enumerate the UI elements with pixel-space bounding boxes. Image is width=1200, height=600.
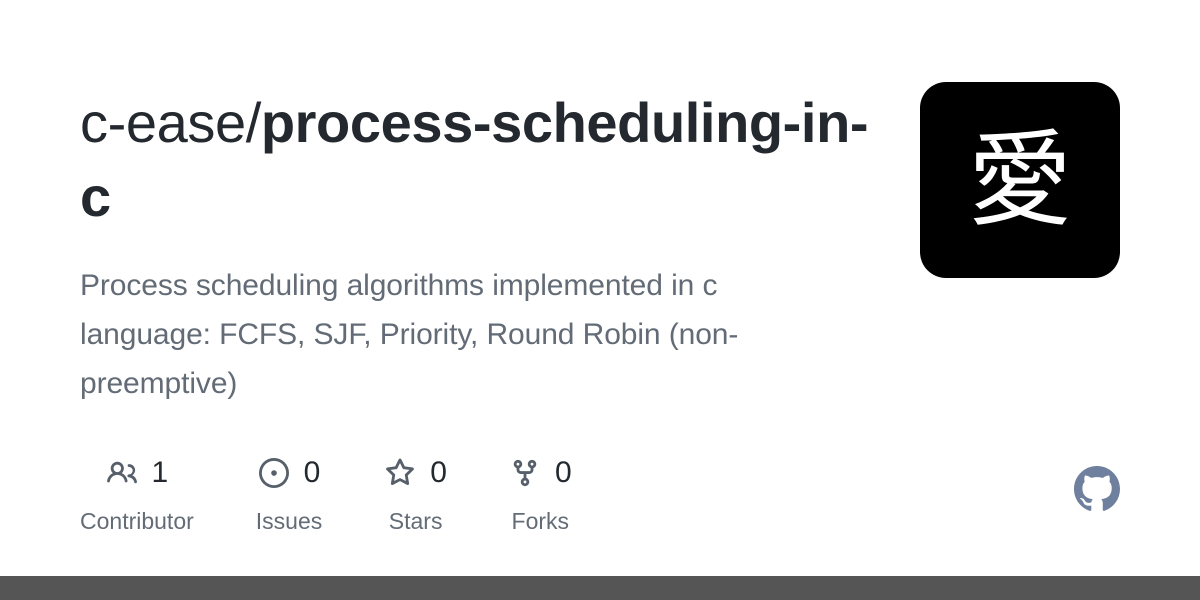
avatar-glyph: 愛 [968,128,1072,232]
stat-stars-value-row: 0 [384,452,447,494]
stat-issues-label: Issues [256,506,322,536]
stat-issues-count: 0 [304,457,321,489]
star-icon [384,457,416,489]
stat-contributors: 1 Contributor [80,452,194,536]
stat-stars-label: Stars [389,506,443,536]
repository-social-preview-card: c-ease/process-scheduling-in-c Process s… [0,0,1200,600]
repository-owner: c-ease [80,91,246,154]
repository-name-separator: / [246,91,261,154]
repository-title: c-ease/process-scheduling-in-c [80,86,870,234]
stat-forks-value-row: 0 [509,452,572,494]
github-mark-icon [1074,466,1120,512]
repo-forked-icon [509,457,541,489]
stat-stars-count: 0 [430,457,447,489]
issue-opened-icon [258,457,290,489]
stat-issues-value-row: 0 [258,452,321,494]
stat-issues: 0 Issues [256,452,322,536]
stat-forks-count: 0 [555,457,572,489]
stat-forks: 0 Forks [509,452,572,536]
stat-stars: 0 Stars [384,452,447,536]
repository-stats: 1 Contributor 0 Issues [80,452,634,536]
stat-forks-label: Forks [512,506,570,536]
people-icon [106,457,138,489]
stat-contributors-value-row: 1 [106,452,169,494]
stat-contributors-label: Contributor [80,506,194,536]
owner-avatar: 愛 [920,82,1120,278]
bottom-bar [0,576,1200,600]
repository-description: Process scheduling algorithms implemente… [80,261,840,408]
stat-contributors-count: 1 [152,457,169,489]
